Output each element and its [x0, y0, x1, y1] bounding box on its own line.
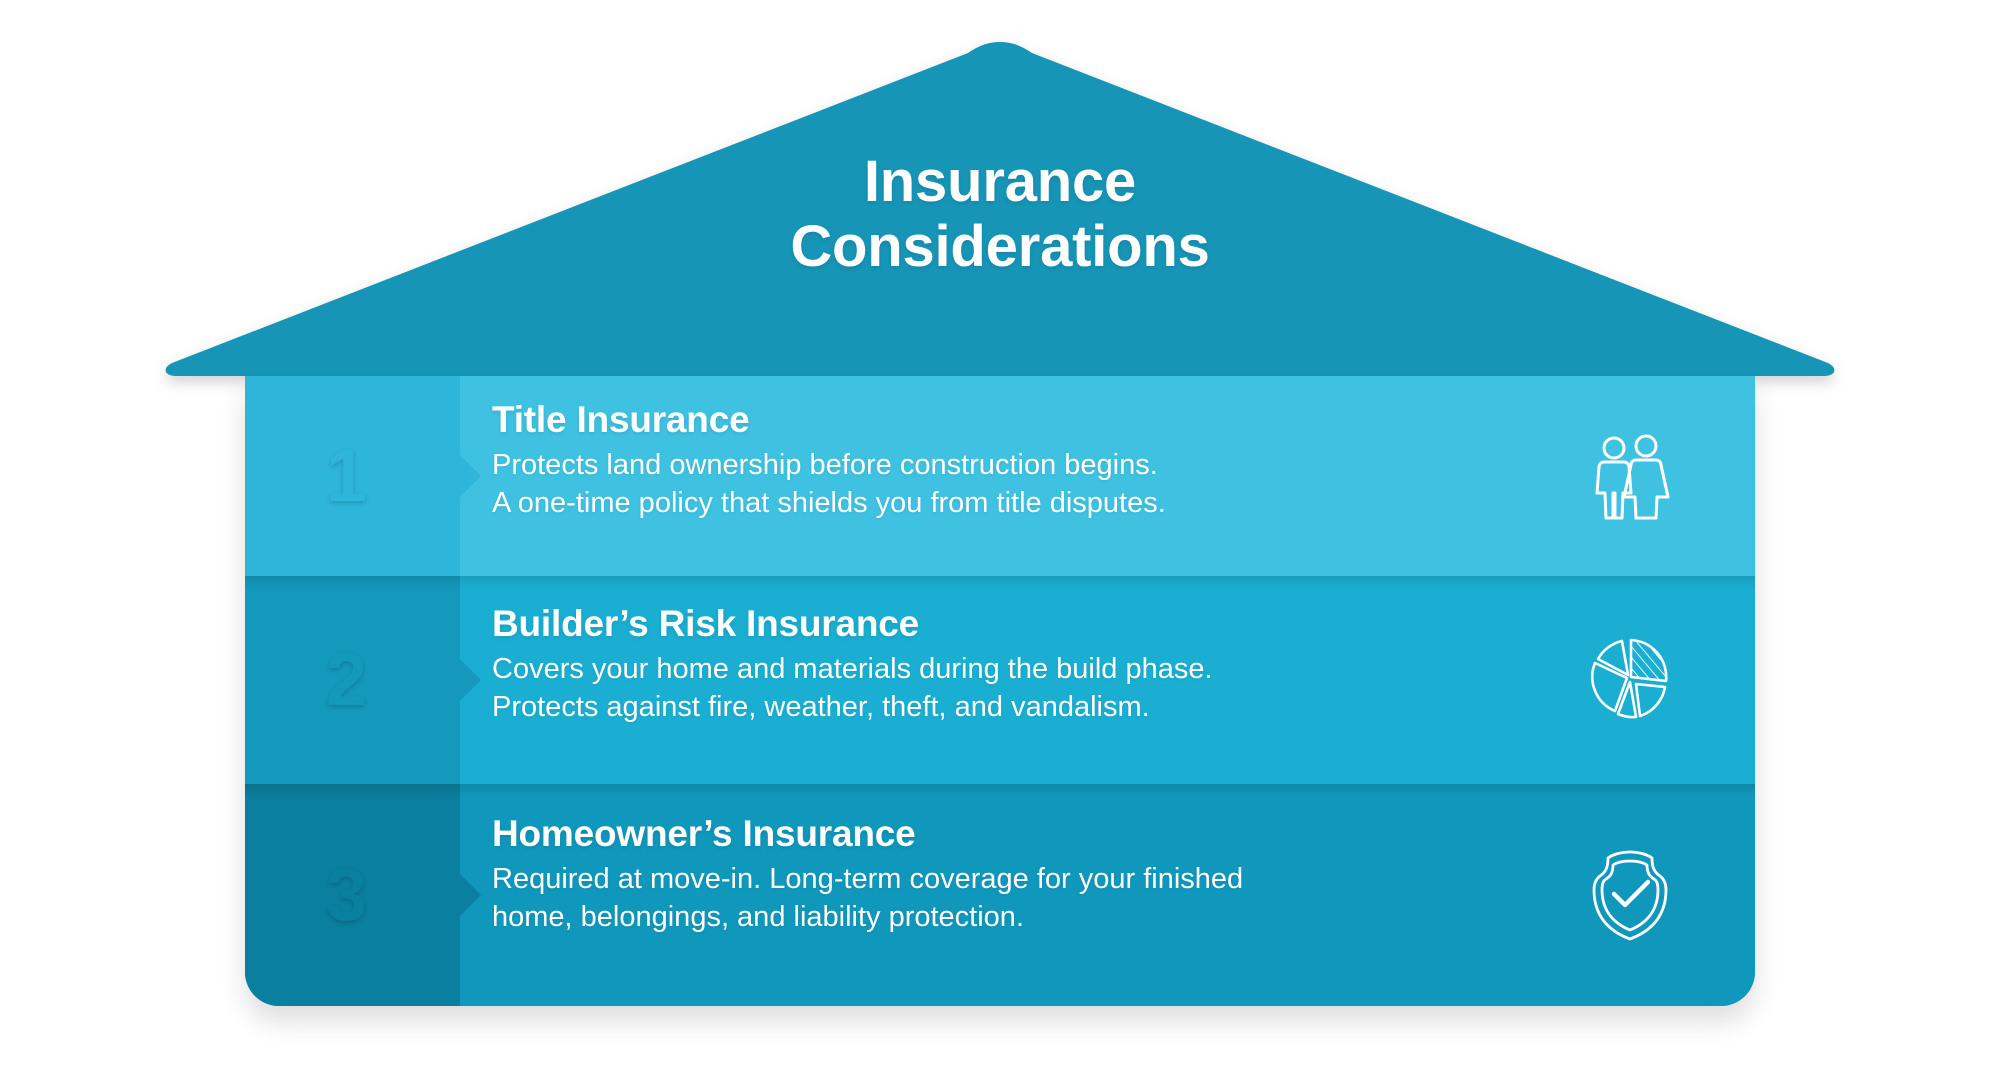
chevron-right-icon — [459, 454, 481, 498]
item-icon-cell — [1525, 784, 1755, 1006]
infographic-canvas: Insurance Considerations 1 Title Insuran… — [0, 0, 2000, 1091]
item-description: Protects land ownership before construct… — [492, 446, 1492, 523]
list-item[interactable]: 1 Title Insurance Protects land ownershi… — [245, 376, 1755, 576]
house-body: 1 Title Insurance Protects land ownershi… — [245, 376, 1755, 1006]
list-item[interactable]: 3 Homeowner’s Insurance Required at move… — [245, 784, 1755, 1006]
item-description-line-2: Protects against fire, weather, theft, a… — [492, 688, 1492, 726]
item-number-cell: 2 — [245, 576, 460, 784]
item-description-line-1: Covers your home and materials during th… — [492, 650, 1492, 688]
item-content: Title Insurance Protects land ownership … — [460, 376, 1525, 576]
item-icon-cell — [1525, 576, 1755, 784]
item-number: 3 — [326, 858, 367, 932]
item-title: Builder’s Risk Insurance — [492, 602, 1525, 646]
item-description: Required at move-in. Long-term coverage … — [492, 860, 1492, 937]
roof-shape — [166, 42, 1835, 376]
item-title: Title Insurance — [492, 398, 1525, 442]
item-number-cell: 3 — [245, 784, 460, 1006]
item-title: Homeowner’s Insurance — [492, 812, 1525, 856]
item-number-cell: 1 — [245, 376, 460, 576]
house-roof: Insurance Considerations — [0, 0, 2000, 400]
item-description-line-1: Required at move-in. Long-term coverage … — [492, 860, 1492, 898]
item-content: Builder’s Risk Insurance Covers your hom… — [460, 576, 1525, 784]
shield-check-icon — [1580, 845, 1680, 945]
list-item[interactable]: 2 Builder’s Risk Insurance Covers your h… — [245, 576, 1755, 784]
page-title-line-1: Insurance — [0, 150, 2000, 215]
page-title: Insurance Considerations — [0, 150, 2000, 280]
item-content: Homeowner’s Insurance Required at move-i… — [460, 784, 1525, 1006]
item-description: Covers your home and materials during th… — [492, 650, 1492, 727]
item-number: 1 — [326, 439, 367, 513]
pie-chart-icon — [1582, 632, 1678, 728]
item-description-line-2: A one-time policy that shields you from … — [492, 484, 1492, 522]
item-description-line-1: Protects land ownership before construct… — [492, 446, 1492, 484]
couple-icon — [1582, 428, 1678, 524]
item-icon-cell — [1525, 376, 1755, 576]
chevron-right-icon — [459, 873, 481, 917]
chevron-right-icon — [459, 658, 481, 702]
item-number: 2 — [326, 643, 367, 717]
item-description-line-2: home, belongings, and liability protecti… — [492, 898, 1492, 936]
page-title-line-2: Considerations — [0, 215, 2000, 280]
